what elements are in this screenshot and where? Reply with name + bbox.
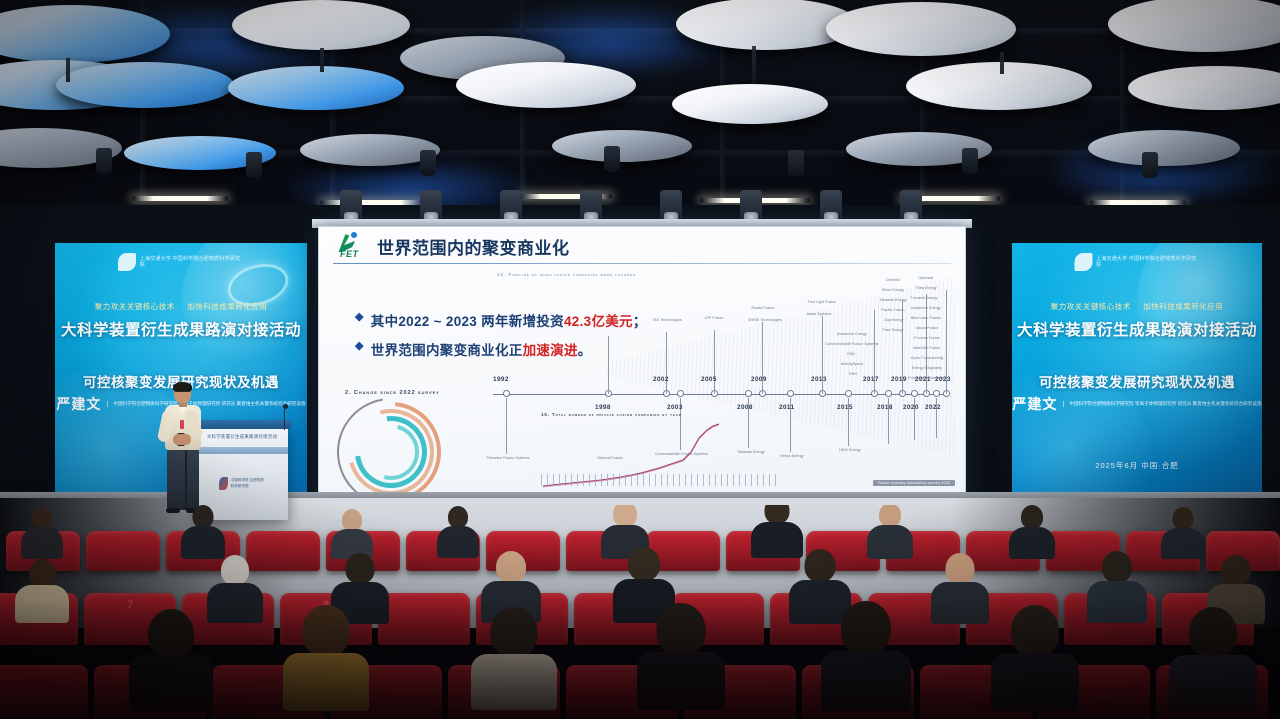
fet-logo-icon: FET: [333, 233, 367, 259]
podium-banner-text: 大科学装置衍生成果路演对接活动: [202, 434, 282, 441]
audience-person: [1168, 607, 1258, 705]
conference-hall-photo: 上海交通大学 中国科学院合肥物质科学研究院 聚力攻关关键核心技术 加快科技成果转…: [0, 0, 1280, 719]
timeline-company: Openstar: [905, 276, 947, 281]
timeline-year: 2015: [837, 404, 853, 411]
acoustic-disc: [300, 134, 440, 166]
podium-logo: 中国科学院 合肥物质科学研究院: [219, 477, 265, 490]
timeline-company: ENN: [831, 372, 875, 377]
diamond-bullet-icon: ◆: [355, 310, 364, 325]
presentation-slide: FET 世界范围内的聚变商业化 14. Timeline of when fus…: [319, 227, 965, 517]
event-subtitle: 聚力攻关关键核心技术 加快科技成果转化应用: [1012, 301, 1262, 312]
timeline-company: Avalanche Energy: [899, 306, 953, 311]
timeline-company: SHINE Technologies: [739, 318, 791, 323]
timeline-company: Princeton Stellarators: [895, 376, 957, 381]
acoustic-disc: [906, 62, 1092, 110]
timeline-company: Thea Energy: [899, 286, 953, 291]
event-subtitle: 聚力攻关关键核心技术 加快科技成果转化应用: [55, 301, 307, 312]
timeline-company: Energy Singularity: [905, 366, 949, 371]
timeline-year: 2003: [667, 404, 683, 411]
logo-text: 上海交通大学 中国科学院合肥物质科学研究院: [1096, 256, 1199, 269]
audience-person: [20, 507, 64, 557]
slide-header: FET 世界范围内的聚变商业化: [319, 227, 965, 262]
timeline-year: 2011: [779, 404, 794, 411]
survey-chart-title: 2. Change since 2022 survey: [345, 390, 440, 396]
audience-person: [470, 607, 558, 705]
logo-mark-icon: [1075, 253, 1093, 271]
timeline-year: 2008: [737, 404, 753, 411]
speaker-name: 严建文: [1012, 394, 1057, 414]
acoustic-disc: [552, 130, 692, 162]
audience-person: [990, 605, 1080, 705]
timeline-company: First Light Fusion: [797, 300, 847, 305]
timeline-year: 2020: [903, 404, 919, 411]
audience-area: 7 8 9 11 12: [0, 505, 1280, 719]
acoustic-disc: [826, 2, 1016, 56]
timeline-year: 1992: [493, 376, 509, 383]
acoustic-disc: [1108, 0, 1280, 52]
audience-person: [636, 603, 726, 705]
seat: [378, 593, 470, 645]
speaker-name: 严建文: [56, 394, 101, 414]
podium-logo-label: 中国科学院 合肥物质科学研究院: [231, 478, 265, 488]
acoustic-disc: [456, 62, 636, 108]
acoustic-disc: [1088, 130, 1240, 166]
timeline-year: 2005: [701, 376, 717, 383]
talk-topic: 可控核聚变发展研究现状及机遇: [1012, 371, 1262, 391]
acoustic-disc: [672, 84, 828, 124]
speaker-lanyard-badge: [180, 420, 184, 429]
event-title: 大科学装置衍生成果路演对接活动: [55, 318, 307, 340]
timeline-year: 2002: [653, 376, 669, 383]
main-projection-screen: FET 世界范围内的聚变商业化 14. Timeline of when fus…: [318, 226, 966, 518]
timeline-company: Commonwealth Fusion Systems: [821, 342, 883, 347]
timeline-company: Princeton Fusion Systems: [481, 456, 535, 461]
seat: [86, 531, 160, 571]
fet-logo-text: FET: [340, 249, 359, 259]
timeline-company: HB11 Energy: [825, 448, 875, 453]
timeline-year: 2022: [925, 404, 941, 411]
event-subtitle-left: 聚力攻关关键核心技术: [95, 302, 175, 311]
microphone-stand: [284, 408, 285, 430]
event-subtitle-right: 加快科技成果转化应用: [1143, 302, 1223, 311]
timeline-company: Blue Laser Fusion: [901, 316, 951, 321]
organization-logo: 上海交通大学 中国科学院合肥物质科学研究院: [1075, 253, 1200, 271]
timeline-company: Kyoto Fusioneering: [899, 356, 955, 361]
audience-person: [282, 605, 370, 705]
timeline-company: Astral Systems: [793, 312, 845, 317]
timeline-company: ENN: [817, 352, 885, 357]
timeline-year: 2009: [751, 376, 767, 383]
event-subtitle-right: 加快科技成果转化应用: [187, 302, 267, 311]
timeline-company: Gauss Fusion: [903, 326, 951, 331]
speaker-affiliation: 中国科学院合肥物质科学研究院 等离子体物理研究所 研究员 聚变堆主机关键系统综合…: [1063, 401, 1261, 408]
timeline-company: HelicitySpace: [823, 362, 881, 367]
acoustic-disc: [232, 0, 410, 50]
audience-person: [436, 506, 480, 556]
timeline-company: Focused Energy: [891, 296, 957, 301]
audience-person: [820, 601, 912, 705]
audience-person: [930, 553, 990, 621]
audience-person: [1160, 507, 1206, 557]
timeline-company: Realta Fusion: [737, 306, 789, 311]
timeline-company: LPP Fusion: [689, 316, 739, 321]
audience-person: [1008, 505, 1056, 557]
slide-title: 世界范围内的聚变商业化: [377, 234, 570, 259]
logo-text: 上海交通大学 中国科学院合肥物质科学研究院: [140, 256, 244, 269]
diamond-bullet-icon: ◆: [355, 339, 364, 354]
speaker-block: 严建文 中国科学院合肥物质科学研究院 等离子体物理研究所 研究员 聚变堆主机关键…: [1012, 394, 1262, 414]
seat: [0, 665, 88, 719]
audience-person: [866, 505, 914, 557]
audience-person: [330, 509, 374, 557]
timeline-year: 2018: [877, 404, 893, 411]
audience-person: [14, 559, 70, 621]
organization-logo: 上海交通大学 中国科学院合肥物质科学研究院: [118, 253, 244, 271]
logo-mark-icon: [118, 253, 136, 271]
event-subtitle-left: 聚力攻关关键核心技术: [1051, 302, 1131, 311]
audience-person: [180, 505, 226, 557]
slide-body: 14. Timeline of when fusion companies we…: [319, 264, 965, 502]
timeline-company: Proxima Fusion: [903, 336, 951, 341]
timeline-year: 1998: [595, 404, 611, 411]
speaker-person: [156, 384, 214, 512]
audience-person: [1086, 551, 1148, 621]
timeline-year: 2013: [811, 376, 827, 383]
glasses-icon: [175, 391, 190, 394]
audience-person: [206, 555, 264, 621]
companies-by-year-linechart: 15. Total number of private fusion compa…: [541, 416, 787, 498]
acoustic-disc: [56, 62, 234, 108]
podium-logo-mark-icon: [219, 477, 228, 490]
ceiling: [0, 0, 1280, 230]
event-title: 大科学装置衍生成果路演对接活动: [1012, 318, 1262, 340]
acoustic-disc: [1128, 66, 1280, 110]
timeline-company: NearStar Fusion: [901, 346, 953, 351]
timeline-company: TAE Technologies: [643, 318, 691, 323]
linechart-x-ticks: [541, 474, 779, 486]
led-screen-right: 上海交通大学 中国科学院合肥物质科学研究院 聚力攻关关键核心技术 加快科技成果转…: [1012, 243, 1262, 495]
event-date-location: 2025年6月 中国·合肥: [1012, 460, 1262, 471]
acoustic-disc: [228, 66, 404, 110]
audience-person: [128, 609, 214, 705]
timeline-source-note: Fusion Industry Association survey 2023: [873, 480, 955, 486]
